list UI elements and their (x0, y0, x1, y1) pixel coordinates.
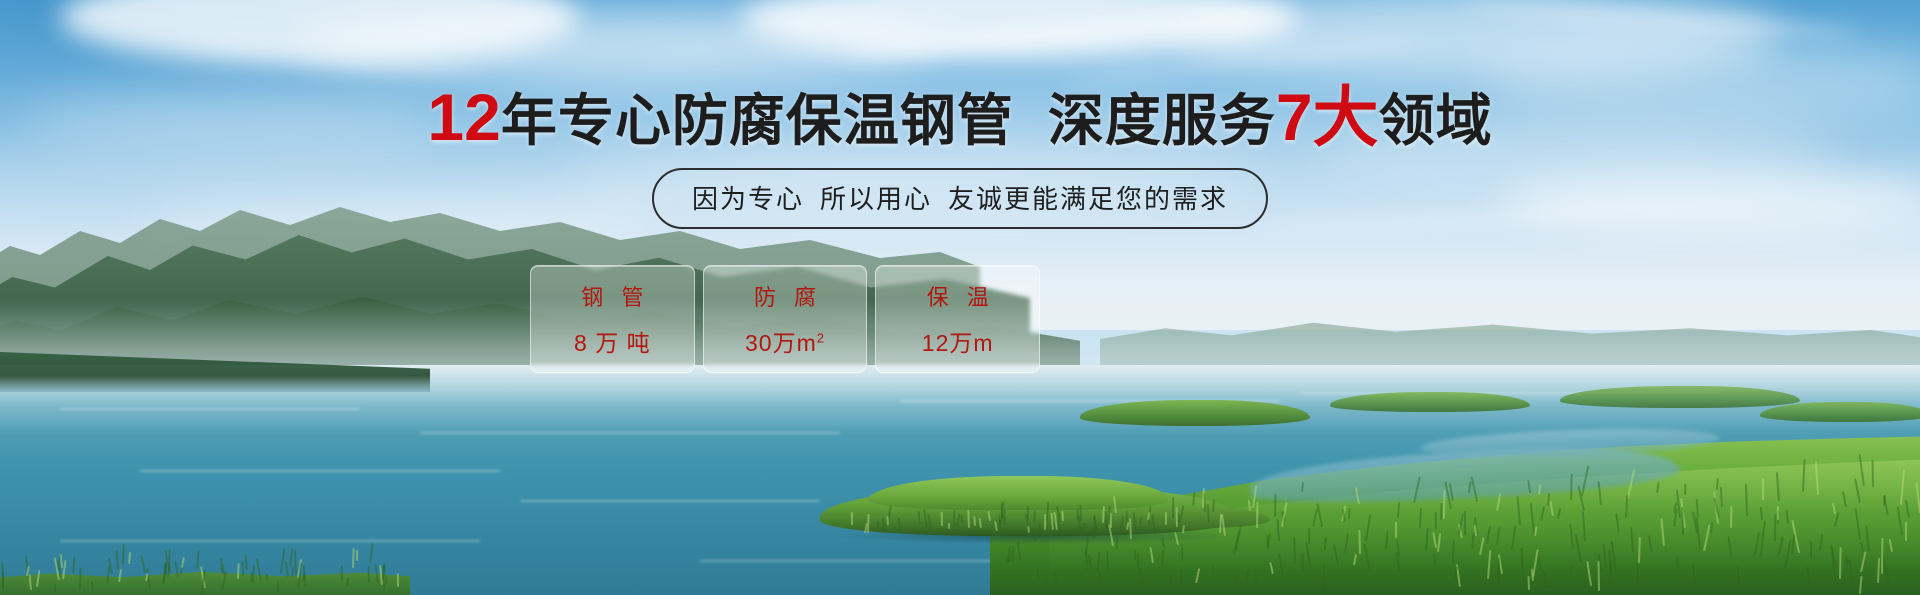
subtitle-segment-1: 因为专心 (692, 184, 804, 214)
headline-years-number: 12 (427, 80, 500, 154)
banner-subtitle-wrap: 因为专心所以用心友诚更能满足您的需求 (0, 168, 1920, 229)
banner-content: 12年专心防腐保温钢管深度服务7大领域 因为专心所以用心友诚更能满足您的需求 钢… (0, 0, 1920, 595)
stat-card-anticorrosion: 防 腐 30万m2 (703, 265, 868, 373)
headline-part-three: 领域 (1379, 89, 1493, 152)
stat-cards: 钢 管 8 万 吨 防 腐 30万m2 保 温 12万m (530, 265, 1040, 373)
stat-card-title: 保 温 (921, 280, 995, 312)
banner-headline: 12年专心防腐保温钢管深度服务7大领域 (0, 84, 1920, 150)
headline-part-one: 年专心防腐保温钢管 (501, 89, 1014, 152)
stat-card-value: 8 万 吨 (574, 324, 651, 358)
stat-card-insulation: 保 温 12万m (875, 265, 1040, 373)
stat-card-value-superscript: 2 (817, 330, 825, 345)
stat-card-value: 30万m2 (745, 324, 825, 358)
stat-card-steel-pipe: 钢 管 8 万 吨 (530, 265, 695, 373)
stat-card-value: 12万m (922, 324, 994, 358)
stat-card-value-text: 30万m (745, 330, 817, 356)
headline-part-two: 深度服务 (1048, 89, 1276, 152)
subtitle-segment-3: 友诚更能满足您的需求 (948, 184, 1228, 214)
hero-banner: 12年专心防腐保温钢管深度服务7大领域 因为专心所以用心友诚更能满足您的需求 钢… (0, 0, 1920, 595)
stat-card-title: 防 腐 (748, 280, 822, 312)
banner-subtitle-pill: 因为专心所以用心友诚更能满足您的需求 (652, 168, 1268, 229)
stat-card-title: 钢 管 (575, 280, 649, 312)
stat-card-value-text: 8 万 吨 (574, 330, 651, 356)
stat-card-value-text: 12万m (922, 330, 994, 356)
subtitle-segment-2: 所以用心 (820, 184, 932, 214)
headline-highlight: 7大 (1276, 80, 1379, 154)
